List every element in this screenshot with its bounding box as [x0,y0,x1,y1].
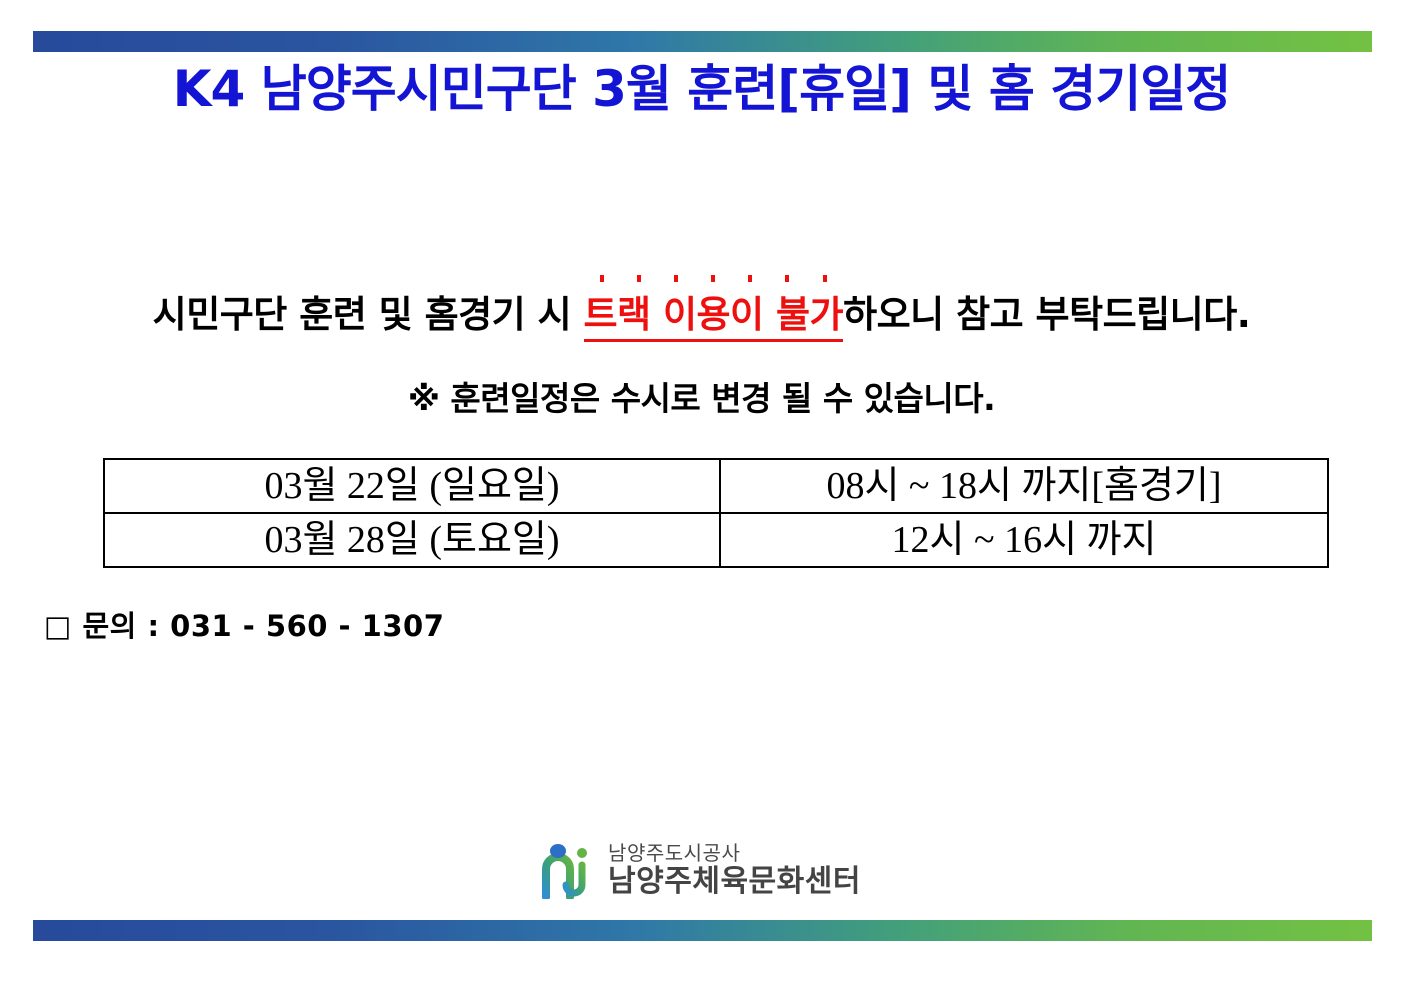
schedule-time-cell: 08시 ~ 18시 까지[홈경기] [720,459,1328,513]
notice-line-2: ※ 훈련일정은 수시로 변경 될 수 있습니다. [0,378,1403,420]
logo-facility: 남양주체육문화센터 [608,865,861,899]
schedule-date-cell: 03월 28일 (토요일) [104,513,720,567]
logo-text-block: 남양주도시공사 남양주체육문화센터 [608,841,861,899]
bottom-gradient-bar [33,920,1372,941]
contact-info: □ 문의 : 031 - 560 - 1307 [44,607,444,645]
schedule-table: 03월 22일 (일요일) 08시 ~ 18시 까지[홈경기] 03월 28일 … [103,458,1329,568]
page-title: K4 남양주시민구단 3월 훈련[휴일] 및 홈 경기일정 [0,58,1403,120]
notice-line-1-suffix: 하오니 참고 부탁드립니다. [843,293,1250,336]
notice-line-1-prefix: 시민구단 훈련 및 홈경기 시 [153,293,584,336]
top-gradient-bar [33,31,1372,52]
notice-page: { "document": { "title": "K4 남양주시민구단 3월 … [0,0,1403,992]
logo-organization: 남양주도시공사 [608,841,861,865]
notice-emphasis-track-unavailable: 트랙 이용이 불가 [584,292,844,342]
footer-logo: 남양주도시공사 남양주체육문화센터 [0,841,1403,899]
table-row: 03월 28일 (토요일) 12시 ~ 16시 까지 [104,513,1328,567]
emphasis-dots [584,275,844,282]
schedule-time-cell: 12시 ~ 16시 까지 [720,513,1328,567]
table-row: 03월 22일 (일요일) 08시 ~ 18시 까지[홈경기] [104,459,1328,513]
schedule-date-cell: 03월 22일 (일요일) [104,459,720,513]
logo-green-dot [577,848,587,858]
namyangju-logo-icon [542,841,596,899]
notice-emphasis-text: 트랙 이용이 불가 [584,293,844,336]
notice-line-1: 시민구단 훈련 및 홈경기 시 트랙 이용이 불가하오니 참고 부탁드립니다. [0,292,1403,342]
logo-blue-dot [550,844,566,858]
